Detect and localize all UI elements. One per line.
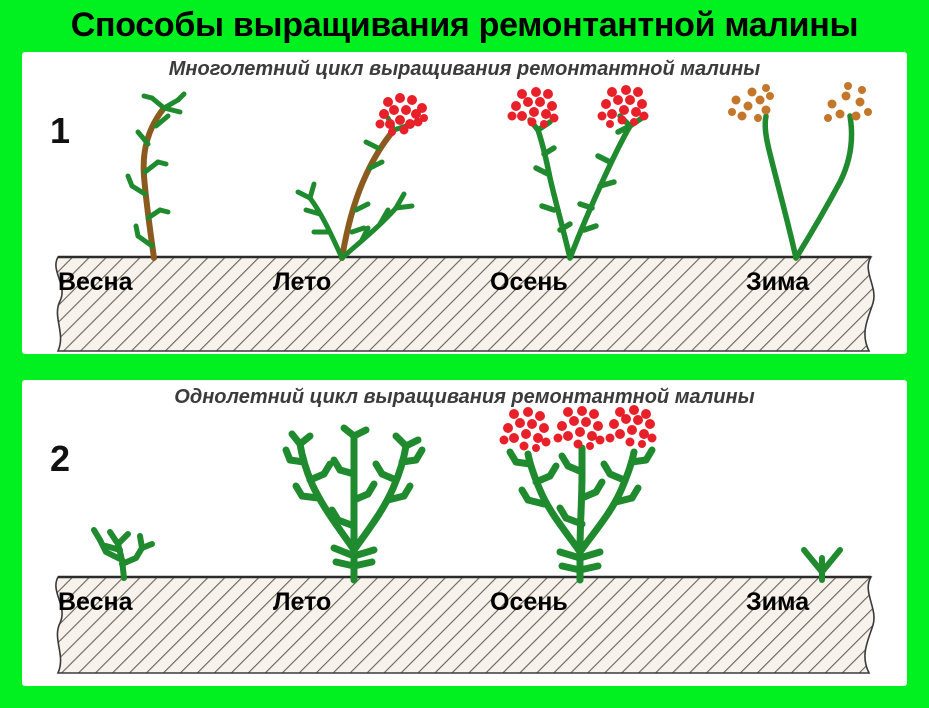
berry-cluster [500, 407, 551, 452]
season-label-winter-2: Зима [746, 588, 809, 617]
plant-stage-annual-autumn [484, 408, 684, 582]
panel-1-subtitle: Многолетний цикл выращивания ремонтантно… [22, 58, 907, 81]
season-label-autumn-1: Осень [490, 268, 568, 297]
season-label-winter-1: Зима [746, 268, 809, 297]
plant-stage-perennial-summer [284, 86, 464, 262]
plant-stage-perennial-winter [722, 82, 892, 262]
panel-annual-cycle: Однолетний цикл выращивания ремонтантной… [22, 380, 907, 686]
panel-1-number: 1 [50, 110, 70, 152]
plant-stage-annual-winter [782, 532, 862, 584]
panel-2-subtitle: Однолетний цикл выращивания ремонтантной… [22, 386, 907, 409]
panel-2-number: 2 [50, 438, 70, 480]
plant-stage-perennial-spring [82, 90, 232, 262]
page-title: Способы выращивания ремонтантной малины [0, 2, 929, 48]
season-label-autumn-2: Осень [490, 588, 568, 617]
berry-cluster [376, 93, 429, 136]
plant-stage-annual-summer [272, 422, 442, 582]
season-label-summer-1: Лето [273, 268, 331, 297]
plant-stage-annual-spring [84, 520, 174, 582]
plant-stage-perennial-autumn [492, 86, 672, 262]
berry-cluster [554, 406, 605, 450]
season-label-spring-1: Весна [58, 268, 133, 297]
season-label-spring-2: Весна [58, 588, 133, 617]
panel-perennial-cycle: Многолетний цикл выращивания ремонтантно… [22, 52, 907, 354]
berry-cluster [606, 405, 657, 448]
season-label-summer-2: Лето [273, 588, 331, 617]
